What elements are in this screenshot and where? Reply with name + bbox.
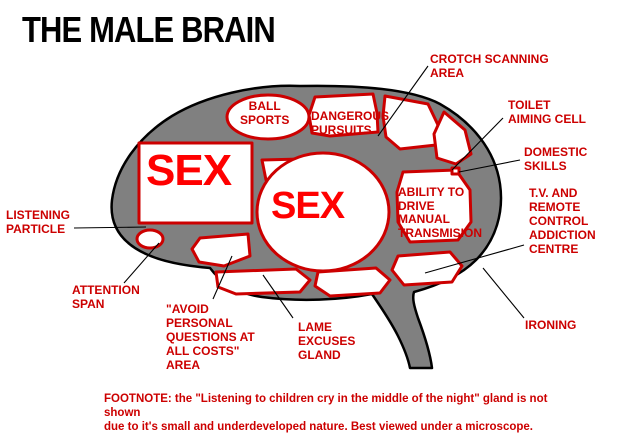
label-ability-to-drive: ABILITY TO DRIVE MANUAL TRANSMISION [398,186,482,240]
label-listening-particle: LISTENING PARTICLE [6,208,70,236]
label-avoid-personal-questions: "AVOID PERSONAL QUESTIONS AT ALL COSTS" … [166,302,255,372]
label-sex-oval: SEX [271,186,344,226]
label-tv-remote-addiction: T.V. AND REMOTE CONTROL ADDICTION CENTRE [529,186,596,256]
label-ball-sports: BALL SPORTS [240,100,289,127]
leader-ironing [483,268,524,318]
region-attention-span [137,230,163,248]
label-attention-span: ATTENTION SPAN [72,283,140,311]
footnote-text: FOOTNOTE: the "Listening to children cry… [104,392,564,434]
label-ironing: IRONING [525,318,576,332]
region-lower-mid [315,268,390,296]
region-lame-excuses [216,269,310,294]
label-sex-rectangle: SEX [146,148,231,194]
diagram-canvas: THE MALE BRAIN [0,0,630,436]
label-toilet-aiming-cell: TOILET AIMING CELL [508,98,586,126]
label-crotch-scanning-area: CROTCH SCANNING AREA [430,52,549,80]
label-dangerous-pursuits: DANGEROUS PURSUITS [311,110,389,137]
label-lame-excuses-gland: LAME EXCUSES GLAND [298,320,355,362]
region-lower-right [392,252,462,285]
label-domestic-skills: DOMESTIC SKILLS [524,145,587,173]
